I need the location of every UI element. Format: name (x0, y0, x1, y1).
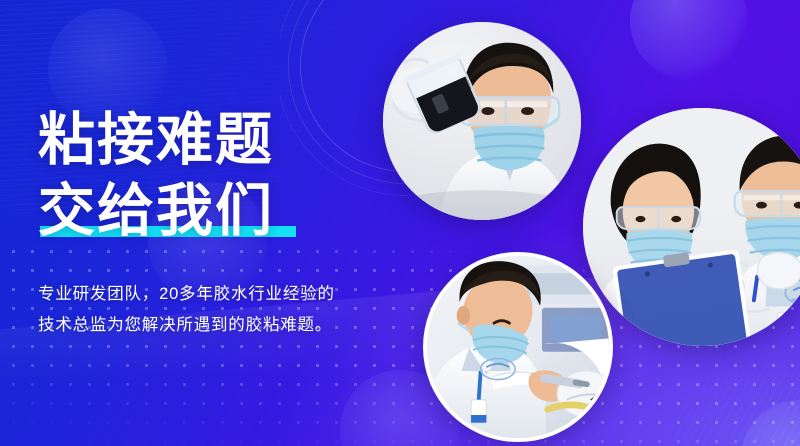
subtext-line-2: 技术总监为您解决所遇到的胶粘难题。 (38, 310, 335, 341)
photo-technician-adhesive-image (427, 256, 609, 438)
photo-researcher-beaker (383, 22, 581, 220)
headline-line-2-wrapper: 交给我们 (38, 179, 274, 243)
photo-researcher-beaker-image (383, 22, 581, 220)
headline-line-1: 粘接难题 (38, 108, 274, 172)
headline-line-2: 交给我们 (38, 179, 274, 243)
promo-banner: 粘接难题 交给我们 专业研发团队，20多年胶水行业经验的 技术总监为您解决所遇到… (0, 0, 800, 446)
photo-technician-applying-adhesive (423, 252, 613, 442)
headline-block: 粘接难题 交给我们 (38, 108, 274, 243)
subtext-line-1: 专业研发团队，20多年胶水行业经验的 (38, 279, 335, 310)
subtext-block: 专业研发团队，20多年胶水行业经验的 技术总监为您解决所遇到的胶粘难题。 (38, 279, 335, 341)
